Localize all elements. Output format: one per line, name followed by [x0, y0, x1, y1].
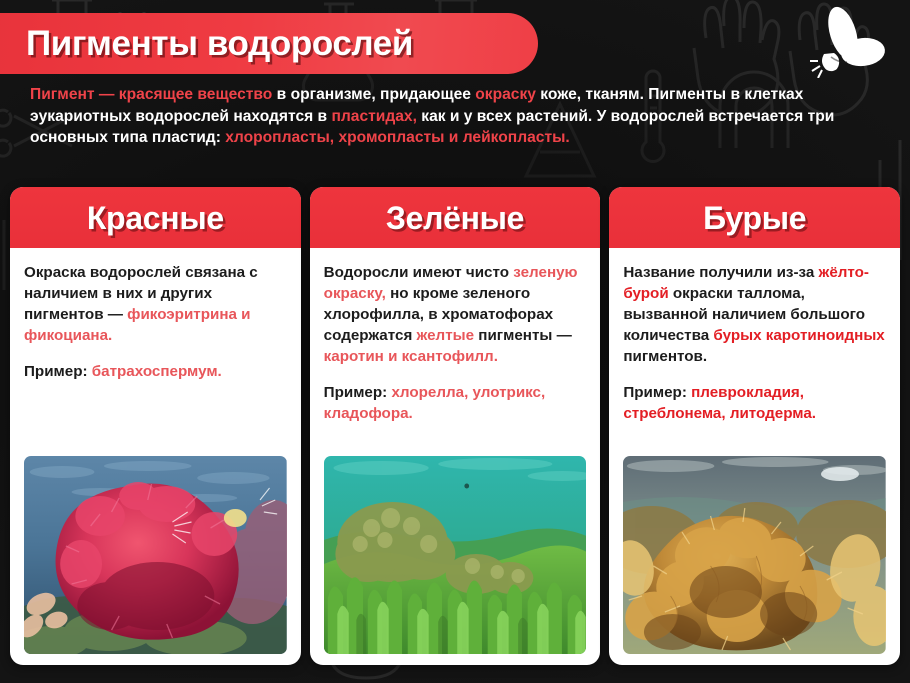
intro-paragraph: Пигмент — красящее вещество в организме,… — [30, 84, 882, 149]
card-title-red: Красные — [87, 202, 224, 234]
plain-text: Пример: — [623, 384, 691, 401]
card-example-green: Пример: хлорелла, улотрикс, кладофора. — [324, 382, 587, 424]
highlighted-text: батрахоспермум. — [92, 363, 222, 380]
card-header-green: Зелёные — [310, 187, 601, 248]
page-title: Пигменты водорослей — [26, 24, 413, 64]
highlighted-text: пластидах, — [331, 108, 416, 125]
card-text-brown: Название получили из-за жёлто-бурой окра… — [623, 262, 886, 367]
brown-algae-photo — [623, 456, 886, 654]
title-banner: Пигменты водорослей — [0, 13, 538, 74]
card-red-algae: Красные Окраска водорослей связана с нал… — [10, 187, 301, 665]
red-algae-photo — [24, 456, 287, 654]
plain-text: Название получили из-за — [623, 264, 818, 281]
card-example-brown: Пример: плеврокладия, стреблонема, литод… — [623, 382, 886, 424]
highlighted-text: окраску — [475, 86, 536, 103]
plain-text: пигментов. — [623, 348, 707, 365]
card-green-algae: Зелёные Водоросли имеют чисто зеленую ок… — [310, 187, 601, 665]
highlighted-text: желтые — [417, 327, 475, 344]
card-body-brown: Название получили из-за жёлто-бурой окра… — [609, 248, 900, 665]
plain-text: пигменты — — [474, 327, 572, 344]
highlighted-text: хлоропласты, хромопласты и лейкопласты. — [225, 129, 570, 146]
card-body-red: Окраска водорослей связана с наличием в … — [10, 248, 301, 665]
butterfly-logo-icon — [810, 6, 888, 78]
card-title-brown: Бурые — [703, 202, 806, 234]
plain-text: Водоросли имеют чисто — [324, 264, 514, 281]
card-header-red: Красные — [10, 187, 301, 248]
plain-text: в организме, придающее — [272, 86, 475, 103]
cards-row: Красные Окраска водорослей связана с нал… — [10, 187, 900, 665]
plain-text: Пример: — [324, 384, 392, 401]
card-title-green: Зелёные — [386, 202, 524, 234]
plain-text: Пример: — [24, 363, 92, 380]
card-example-red: Пример: батрахоспермум. — [24, 361, 287, 382]
card-text-red: Окраска водорослей связана с наличием в … — [24, 262, 287, 346]
highlighted-text: бурых каротиноидных — [713, 327, 884, 344]
highlighted-text: Пигмент — красящее вещество — [30, 86, 272, 103]
card-brown-algae: Бурые Название получили из-за жёлто-буро… — [609, 187, 900, 665]
card-header-brown: Бурые — [609, 187, 900, 248]
highlighted-text: каротин и ксантофилл. — [324, 348, 498, 365]
green-algae-photo — [324, 456, 587, 654]
card-body-green: Водоросли имеют чисто зеленую окраску, н… — [310, 248, 601, 665]
card-text-green: Водоросли имеют чисто зеленую окраску, н… — [324, 262, 587, 367]
